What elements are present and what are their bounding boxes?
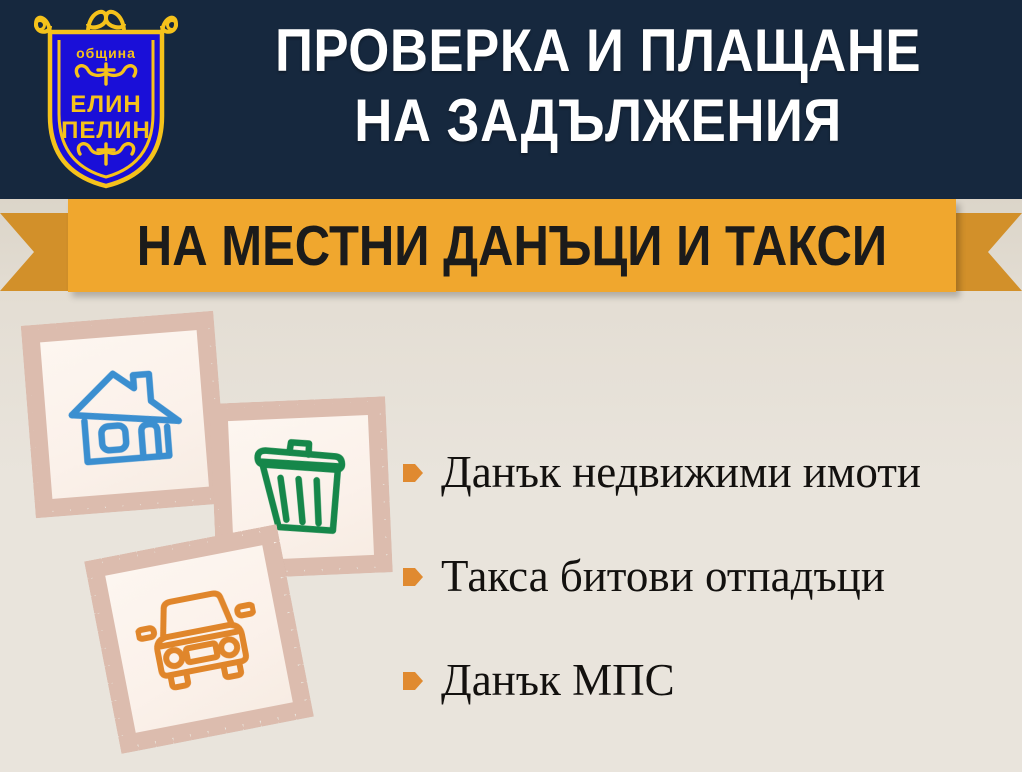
svg-text:община: община: [76, 45, 136, 61]
bullet-arrow-icon: [403, 670, 423, 692]
list-item[interactable]: Данък недвижими имоти: [403, 420, 1013, 524]
stamp-card-house: [21, 311, 229, 519]
list-item-label: Такса битови отпадъци: [441, 554, 885, 599]
page-title-line-2: НА ЗАДЪЛЖЕНИЯ: [239, 86, 957, 156]
car-icon: [130, 580, 268, 698]
list-item[interactable]: Такса битови отпадъци: [403, 524, 1013, 628]
list-item-label: Данък МПС: [441, 658, 675, 703]
ribbon-label: НА МЕСТНИ ДАНЪЦИ И ТАКСИ: [130, 199, 894, 292]
bullet-arrow-icon: [403, 462, 423, 484]
list-item-label: Данък недвижими имоти: [441, 450, 921, 495]
page-title: ПРОВЕРКА И ПЛАЩАНЕ НА ЗАДЪЛЖЕНИЯ: [239, 16, 957, 156]
svg-text:ЕЛИН: ЕЛИН: [70, 91, 141, 118]
stamp-card-car: [84, 524, 314, 754]
bullet-arrow-icon: [403, 566, 423, 588]
poster-root: община ЕЛИН ПЕЛИН: [0, 0, 1022, 772]
municipality-logo: община ЕЛИН ПЕЛИН: [26, 4, 186, 190]
svg-text:ПЕЛИН: ПЕЛИН: [61, 117, 151, 144]
house-icon: [62, 358, 188, 471]
tax-type-list: Данък недвижими имоти Такса битови отпад…: [403, 420, 1013, 732]
subtitle-ribbon: НА МЕСТНИ ДАНЪЦИ И ТАКСИ: [0, 199, 1022, 299]
stamp-inner-house: [40, 330, 209, 499]
header-bar: община ЕЛИН ПЕЛИН: [0, 0, 1022, 199]
ribbon-center-panel: НА МЕСТНИ ДАНЪЦИ И ТАКСИ: [68, 199, 956, 292]
list-item[interactable]: Данък МПС: [403, 628, 1013, 732]
page-title-line-1: ПРОВЕРКА И ПЛАЩАНЕ: [239, 16, 957, 86]
stamp-inner-car: [105, 545, 293, 733]
